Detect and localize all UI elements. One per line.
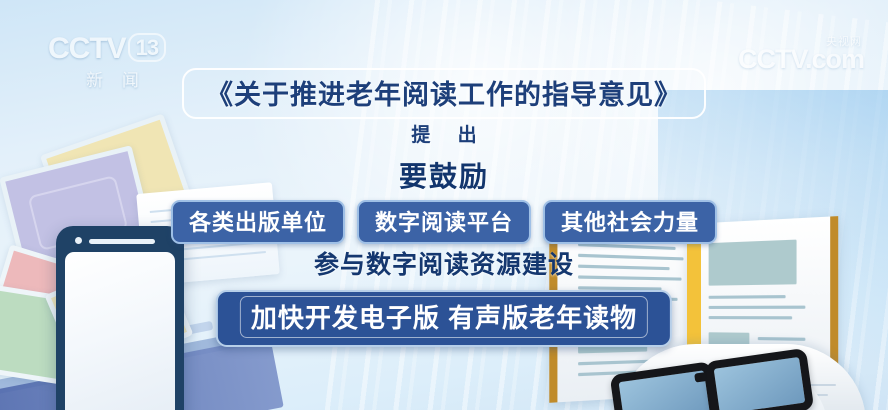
highlight-banner-text: 加快开发电子版 有声版老年读物 xyxy=(251,298,637,335)
pill-digital-platforms: 数字阅读平台 xyxy=(357,200,531,244)
pill-publishers: 各类出版单位 xyxy=(171,200,345,244)
broadcast-graphic: CCTV13 新 闻 央视网 CCTV.com 《关于推进老年阅读工作的指导意见… xyxy=(0,0,888,410)
highlight-banner-inner: 加快开发电子版 有声版老年读物 xyxy=(240,296,648,338)
highlight-banner: 加快开发电子版 有声版老年读物 xyxy=(216,290,672,347)
entity-pill-group: 各类出版单位 数字阅读平台 其他社会力量 xyxy=(171,200,717,244)
line-participate: 参与数字阅读资源建设 xyxy=(314,245,574,281)
document-title: 《关于推进老年阅读工作的指导意见》 xyxy=(206,73,682,112)
line-encourage: 要鼓励 xyxy=(399,155,489,195)
pill-social-forces: 其他社会力量 xyxy=(543,200,717,244)
document-title-box: 《关于推进老年阅读工作的指导意见》 xyxy=(182,68,706,119)
content-layer: 《关于推进老年阅读工作的指导意见》 提 出 要鼓励 各类出版单位 数字阅读平台 … xyxy=(0,0,888,410)
line-propose: 提 出 xyxy=(400,120,487,147)
